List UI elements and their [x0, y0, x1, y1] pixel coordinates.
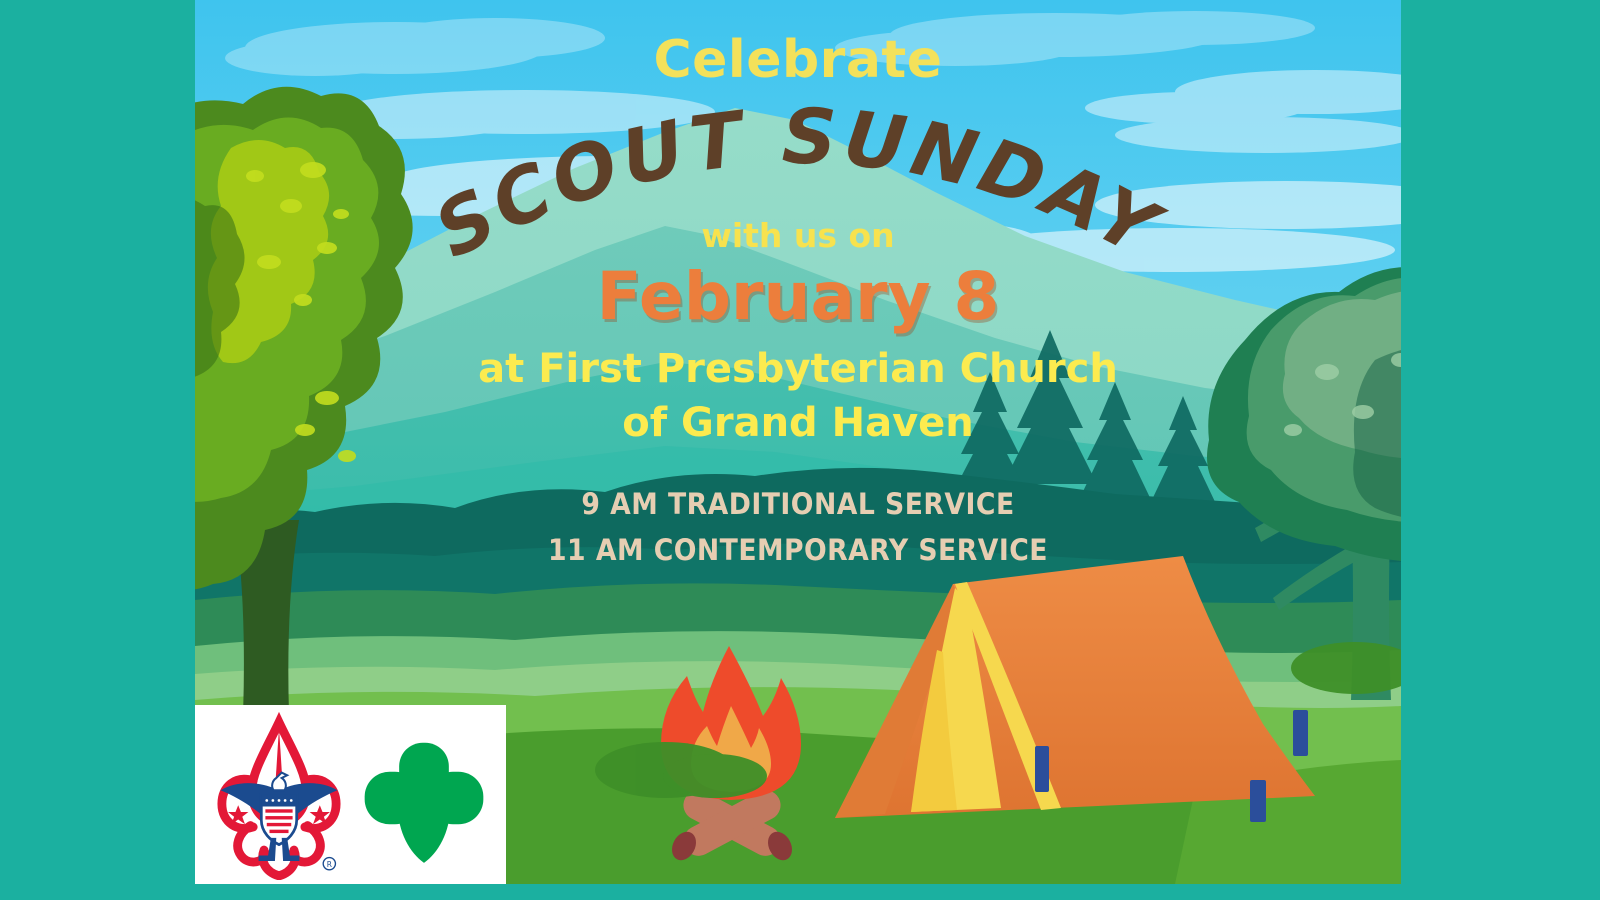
tent-stake-left	[1035, 746, 1049, 792]
tent-stake-right	[1293, 710, 1308, 756]
svg-text:R: R	[326, 860, 331, 869]
tent-stake-mid	[1250, 780, 1266, 822]
girl-scouts-trefoil-icon	[355, 729, 493, 867]
scout-logos-panel: R	[195, 705, 506, 884]
poster-root: Celebrate SCOUT SUNDAY with us on Februa…	[0, 0, 1600, 900]
bsa-fleur-de-lis-icon: R	[209, 710, 349, 880]
